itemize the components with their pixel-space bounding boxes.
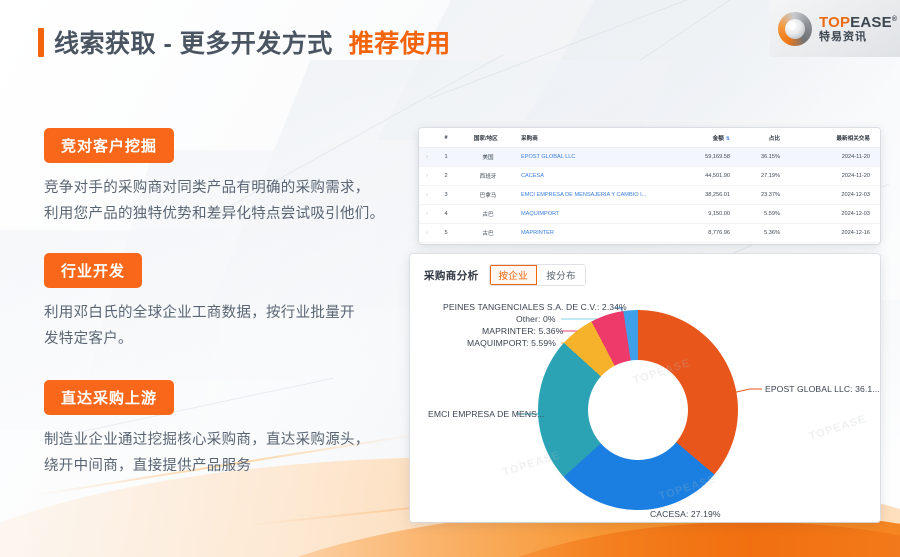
table-row[interactable]: › 6 墨西哥 PEINES TANGENCIALES S.A. DE C.V.… (419, 243, 880, 245)
logo-ease-text: EASE (850, 14, 892, 31)
row-index: 1 (435, 148, 457, 167)
row-latest-deal: 2024-11-20 (794, 167, 880, 186)
row-amount: 8,776.96 (676, 224, 742, 243)
chart-view-tabs: 按企业 按分布 (489, 264, 586, 286)
row-percent: 5.59% (742, 205, 794, 224)
feature-desc-2: 利用邓白氏的全球企业工商数据，按行业批量开 发特定客户。 (44, 300, 404, 352)
feature-badge-3: 直达采购上游 (44, 380, 174, 415)
table-row[interactable]: › 3 巴拿马 EMCI EMPRESA DE MENSAJERIA Y CAM… (419, 186, 880, 205)
row-amount: 59,169.58 (676, 148, 742, 167)
feature-desc-2-line-2: 发特定客户。 (44, 326, 404, 352)
title-accent-text: 推荐使用 (349, 24, 451, 60)
page-title: 线索获取 - 更多开发方式 推荐使用 (38, 24, 451, 60)
feature-block-3: 直达采购上游 制造业企业通过挖掘核心采购商，直达采购源头， 绕开中间商，直接提供… (44, 380, 404, 479)
logo-chinese-text: 特易资讯 (819, 32, 897, 43)
col-index[interactable]: # (435, 128, 457, 148)
sort-amount-icon[interactable]: ⇅ (726, 136, 730, 142)
row-buyer-link[interactable]: MAPRINTER (519, 224, 676, 243)
row-country: 墨西哥 (457, 243, 519, 245)
sort-country-icon[interactable]: ↑ (500, 136, 503, 142)
buyer-table-card: # 国家/地区↑ 采购商 金额⇅ 占比 最新相关交易 › 1 美国 EPOST … (419, 128, 880, 244)
donut-center-hole (588, 360, 688, 460)
chart-header: 采购商分析 按企业 按分布 (410, 254, 880, 286)
row-country: 古巴 (457, 205, 519, 224)
table-row[interactable]: › 2 西班牙 CACESA 44,501.90 27.19% 2024-11-… (419, 167, 880, 186)
row-buyer-link[interactable]: MAQUIMPORT (519, 205, 676, 224)
row-percent: 5.36% (742, 224, 794, 243)
row-amount: 44,501.90 (676, 167, 742, 186)
title-main-text: 线索获取 - 更多开发方式 (54, 24, 333, 60)
row-latest-deal: 2024-12-03 (794, 186, 880, 205)
label-maquimport: MAQUIMPORT: 5.59% (467, 338, 556, 348)
row-amount: 9,150.00 (676, 205, 742, 224)
col-expand (419, 128, 435, 148)
row-expand-icon[interactable]: › (419, 205, 435, 224)
row-index: 2 (435, 167, 457, 186)
row-country: 西班牙 (457, 167, 519, 186)
row-expand-icon[interactable]: › (419, 224, 435, 243)
row-index: 6 (435, 243, 457, 245)
label-epost: EPOST GLOBAL LLC: 36.1... (765, 384, 880, 394)
table-row[interactable]: › 5 古巴 MAPRINTER 8,776.96 5.36% 2024-12-… (419, 224, 880, 243)
row-buyer-link[interactable]: PEINES TANGENCIALES S.A. DE C.V. (519, 243, 676, 245)
col-country[interactable]: 国家/地区↑ (457, 128, 519, 148)
row-index: 3 (435, 186, 457, 205)
row-percent: 36.15% (742, 148, 794, 167)
row-buyer-link[interactable]: CACESA (519, 167, 676, 186)
row-expand-icon[interactable]: › (419, 148, 435, 167)
label-emci: EMCI EMPRESA DE MENS... (428, 409, 544, 419)
table-header-row: # 国家/地区↑ 采购商 金额⇅ 占比 最新相关交易 (419, 128, 880, 148)
feature-desc-3-line-1: 制造业企业通过挖掘核心采购商，直达采购源头， (44, 427, 404, 453)
label-other: Other: 0% (516, 314, 556, 324)
row-amount: 38,256.01 (676, 186, 742, 205)
feature-badge-1: 竞对客户挖掘 (44, 128, 174, 163)
label-cacesa: CACESA: 27.19% (650, 509, 721, 519)
feature-desc-2-line-1: 利用邓白氏的全球企业工商数据，按行业批量开 (44, 300, 404, 326)
col-amount[interactable]: 金额⇅ (676, 128, 742, 148)
row-percent: 27.19% (742, 167, 794, 186)
row-latest-deal: 2024-11-20 (794, 148, 880, 167)
col-latest-deal[interactable]: 最新相关交易 (794, 128, 880, 148)
row-latest-deal: 2022-02-24 (794, 243, 880, 245)
feature-desc-3: 制造业企业通过挖掘核心采购商，直达采购源头， 绕开中间商，直接提供产品服务 (44, 427, 404, 479)
row-country: 巴拿马 (457, 186, 519, 205)
row-percent: 2.34% (742, 243, 794, 245)
buyer-table-body: › 1 美国 EPOST GLOBAL LLC 59,169.58 36.15%… (419, 148, 880, 245)
donut-graphic (538, 310, 738, 510)
table-row[interactable]: › 1 美国 EPOST GLOBAL LLC 59,169.58 36.15%… (419, 148, 880, 167)
feature-badge-2: 行业开发 (44, 253, 142, 288)
logo-registered-mark: ® (892, 16, 897, 23)
row-buyer-link[interactable]: EMCI EMPRESA DE MENSAJERIA Y CAMBIO I... (519, 186, 676, 205)
title-accent-bar (38, 28, 44, 57)
feature-desc-1-line-1: 竞争对手的采购商对同类产品有明确的采购需求， (44, 175, 404, 201)
col-country-label: 国家/地区 (474, 136, 498, 142)
row-expand-icon[interactable]: › (419, 186, 435, 205)
tab-by-distribution[interactable]: 按分布 (537, 265, 585, 285)
donut-chart: TOPEASE TOPEASE TOPEASE TOPEASE PEINES T… (410, 286, 880, 508)
chart-title: 采购商分析 (424, 268, 479, 283)
buyer-analysis-card: 采购商分析 按企业 按分布 TOPEASE T (410, 254, 880, 522)
logo-inner-circle-icon (785, 19, 805, 39)
logo-ring-icon (778, 12, 812, 46)
row-expand-icon[interactable]: › (419, 243, 435, 245)
logo-highlight-icon (788, 22, 796, 30)
row-amount: 3,833.87 (676, 243, 742, 245)
row-index: 5 (435, 224, 457, 243)
brand-logo: TOPEASE® 特易资讯 (770, 0, 900, 57)
row-percent: 23.37% (742, 186, 794, 205)
col-percent[interactable]: 占比 (742, 128, 794, 148)
row-latest-deal: 2024-12-03 (794, 205, 880, 224)
row-index: 4 (435, 205, 457, 224)
label-peines: PEINES TANGENCIALES S.A. DE C.V.: 2.34% (443, 302, 627, 312)
row-expand-icon[interactable]: › (419, 167, 435, 186)
table-row[interactable]: › 4 古巴 MAQUIMPORT 9,150.00 5.59% 2024-12… (419, 205, 880, 224)
col-buyer[interactable]: 采购商 (519, 128, 676, 148)
buyer-table: # 国家/地区↑ 采购商 金额⇅ 占比 最新相关交易 › 1 美国 EPOST … (419, 128, 880, 244)
row-latest-deal: 2024-12-16 (794, 224, 880, 243)
tab-by-company[interactable]: 按企业 (490, 265, 538, 285)
row-buyer-link[interactable]: EPOST GLOBAL LLC (519, 148, 676, 167)
row-country: 古巴 (457, 224, 519, 243)
logo-wordmark: TOPEASE® 特易资讯 (819, 15, 897, 43)
col-amount-label: 金额 (713, 136, 724, 142)
logo-top-text: TOP (819, 14, 850, 31)
label-maprinter: MAPRINTER: 5.36% (482, 326, 563, 336)
row-country: 美国 (457, 148, 519, 167)
feature-desc-1-line-2: 利用您产品的独特优势和差异化特点尝试吸引他们。 (44, 201, 404, 227)
buyer-table-head: # 国家/地区↑ 采购商 金额⇅ 占比 最新相关交易 (419, 128, 880, 148)
feature-list: 竞对客户挖掘 竞争对手的采购商对同类产品有明确的采购需求， 利用您产品的独特优势… (44, 128, 404, 479)
feature-block-1: 竞对客户挖掘 竞争对手的采购商对同类产品有明确的采购需求， 利用您产品的独特优势… (44, 128, 404, 227)
feature-block-2: 行业开发 利用邓白氏的全球企业工商数据，按行业批量开 发特定客户。 (44, 253, 404, 352)
feature-desc-3-line-2: 绕开中间商，直接提供产品服务 (44, 453, 404, 479)
feature-desc-1: 竞争对手的采购商对同类产品有明确的采购需求， 利用您产品的独特优势和差异化特点尝… (44, 175, 404, 227)
